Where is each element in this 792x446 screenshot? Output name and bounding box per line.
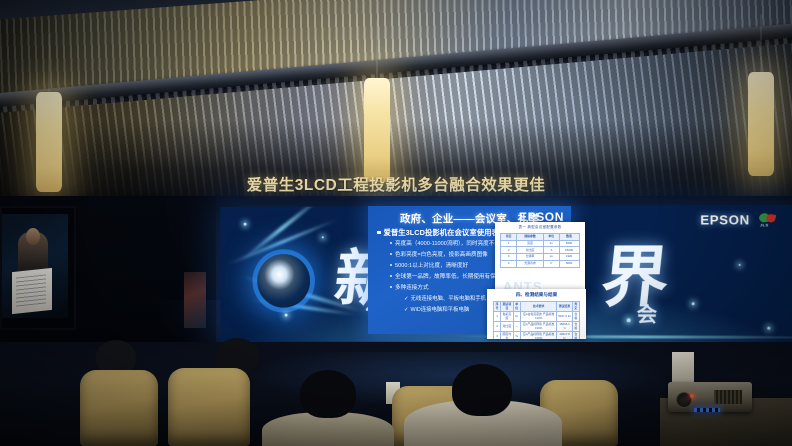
table-row: 3 照度均匀 % 应≥产品标称值 产品标准 ±10% 10617.8 lx 合格 — [493, 332, 579, 339]
backdrop-word-right: 会 — [637, 298, 657, 327]
table-cell: 10617.8 lx — [557, 332, 572, 339]
table-header-cell: 单位 — [544, 234, 560, 241]
pendant-light-right — [748, 72, 774, 176]
table-cell: 应≥产品标称值 产品标准 ±10% — [520, 322, 557, 332]
slide-bullet: 色彩亮度=白色亮度，投影高画质图像 — [390, 250, 488, 258]
table-header-cell: 项目 — [501, 234, 517, 241]
side-poster — [184, 272, 206, 328]
spark-particle — [322, 236, 324, 238]
table-cell: 应≥白色亮度的 产品标准 ±10% — [520, 312, 557, 322]
epson-wordmark: EPSON — [700, 213, 750, 226]
slide-sub-bullet-text: WiD连接电脑和平板电脑 — [411, 307, 470, 313]
projector-vent — [714, 390, 742, 404]
check-icon: ✓ — [404, 307, 409, 313]
table-cell: :1 — [544, 247, 560, 254]
table-cell: % — [513, 332, 520, 339]
slide-bullet: 亮度高（4000-11000流明），同时亮度不衰减 — [390, 239, 506, 247]
table-cell: lm — [513, 312, 520, 322]
table-header-cell: 技术要求 — [520, 302, 557, 312]
slide-subtitle: 爱普生3LCD投影机在会议室使用表现 — [377, 227, 506, 238]
conference-hall-photo: 爱普生3LCD工程投影机多台融合效果更佳 新 界 2 0 会 EPSON — [0, 0, 792, 446]
slide-bullet-text: 多种连接方式 — [395, 283, 429, 291]
table-header-cell: 单位 — [513, 302, 520, 312]
table-header-cell: 规格参数 — [516, 234, 543, 241]
slide-bullet-text: 亮度高（4000-11000流明），同时亮度不衰减 — [395, 239, 506, 247]
table-header-cell: 判定 — [572, 302, 579, 312]
document-section-title: 四、检测结果与结果 — [487, 292, 586, 298]
slide-bullet: 全球第一品牌，故障率低，长期使用有保障 — [390, 272, 501, 280]
projector-status-led — [690, 394, 694, 398]
table-header-row: 项目 规格参数 单位 数值 — [501, 234, 579, 241]
table-cell: h — [544, 260, 560, 267]
slide-sub-bullet: ✓WiD连接电脑和平板电脑 — [404, 305, 469, 313]
table-row: 3 分辨率 px 1920 — [501, 254, 579, 261]
table-cell: — — [513, 322, 520, 332]
draped-ceiling — [0, 0, 792, 200]
slide-bullet-text: 5000:1以上对比度，清晰度好 — [395, 261, 468, 269]
cobrand-logo-icon: JLS — [759, 213, 778, 226]
backdrop-epson-logo: EPSON JLS — [700, 213, 778, 226]
operator-head — [26, 228, 40, 245]
slide-sub-bullet: ✓无线连接电脑、平板电脑和手机 — [404, 294, 486, 302]
table-cell: 合格 — [572, 332, 579, 339]
projector-indicator-strip — [694, 408, 720, 412]
banquet-chair — [168, 368, 250, 446]
venue-banner-text: 爱普生3LCD工程投影机多台融合效果更佳 — [0, 173, 792, 195]
table-cell: 应≥产品标称值 产品标准 ±10% — [520, 332, 557, 339]
audience-head — [452, 364, 512, 416]
side-projection-operator-area — [2, 214, 68, 318]
check-icon: ✓ — [404, 296, 409, 302]
table-cell: 5000 — [559, 260, 579, 267]
bullet-dot-icon — [390, 253, 392, 255]
table-header-cell: 数值 — [559, 234, 579, 241]
banquet-chair — [80, 370, 158, 446]
slide-subtitle-text: 爱普生3LCD投影机在会议室使用表现 — [384, 227, 507, 238]
table-header-cell: 测试结果 — [557, 302, 572, 312]
table-cell: 亮度 — [516, 240, 543, 247]
bullet-dot-icon — [390, 242, 392, 244]
table-cell: 1 — [501, 240, 517, 247]
slide-bullet-text: 色彩亮度=白色亮度，投影高画质图像 — [395, 250, 488, 258]
table-cell: 对比度 — [516, 247, 543, 254]
table-cell: 2 — [501, 247, 517, 254]
table-placard — [672, 352, 694, 386]
table-cell: 5047.2 lm — [557, 312, 572, 322]
table-cell: 4 — [501, 260, 517, 267]
table-row: 2 对比度 :1 15000 — [501, 247, 579, 254]
table-cell: 分辨率 — [516, 254, 543, 261]
pendant-light-center — [364, 78, 390, 182]
slide-bullet-text: 全球第一品牌，故障率低，长期使用有保障 — [395, 272, 501, 280]
document-table-top: 项目 规格参数 单位 数值 1 亮度 lm 5200 2 对比度 :1 1500… — [500, 233, 579, 268]
slide-sub-bullet-text: 无线连接电脑、平板电脑和手机 — [411, 296, 486, 302]
square-bullet-icon — [377, 231, 381, 235]
table-header-cell: 测试项目 — [501, 302, 513, 312]
spark-particle — [692, 302, 695, 305]
table-cell: 对比度 — [501, 322, 513, 332]
glowing-orb-graphic — [257, 254, 310, 307]
table-cell: lm — [544, 240, 560, 247]
document-caption: 表一 典型会议室配置参数 — [495, 225, 585, 230]
table-cell: 15000 — [559, 247, 579, 254]
table-header-row: 序号 测试项目 单位 技术要求 测试结果 判定 — [493, 302, 579, 312]
table-row: 1 色彩亮度 lm 应≥白色亮度的 产品标准 ±10% 5047.2 lm 合格 — [493, 312, 579, 322]
spark-particle — [285, 314, 287, 316]
table-cell: 合格 — [572, 312, 579, 322]
table-header-cell: 序号 — [493, 302, 500, 312]
table-cell: 3 — [493, 332, 500, 339]
table-cell: 色彩亮度 — [501, 312, 513, 322]
table-row: 4 光源寿命 h 5000 — [501, 260, 579, 267]
bullet-dot-icon — [390, 264, 392, 266]
audience-head — [300, 370, 356, 418]
table-cell: 3 — [501, 254, 517, 261]
bullet-dot-icon — [390, 275, 392, 277]
audience-head — [96, 340, 136, 374]
table-cell: px — [544, 254, 560, 261]
spark-particle — [767, 327, 770, 330]
document-table-bottom: 序号 测试项目 单位 技术要求 测试结果 判定 1 色彩亮度 lm 应≥白色亮度… — [493, 301, 580, 339]
cobrand-label: JLS — [760, 222, 768, 227]
table-row: 1 亮度 lm 5200 — [501, 240, 579, 247]
table-cell: 15006.1 :1 — [557, 322, 572, 332]
table-cell: 5200 — [559, 240, 579, 247]
table-cell: 2 — [493, 322, 500, 332]
slide-bullet: 多种连接方式 — [390, 283, 429, 291]
table-cell: 1 — [493, 312, 500, 322]
table-cell: 合格 — [572, 322, 579, 332]
bullet-dot-icon — [390, 286, 392, 288]
operator-laptop-content — [16, 274, 46, 307]
spark-particle — [739, 264, 741, 266]
spark-particle — [244, 223, 247, 226]
table-row: 2 对比度 — 应≥产品标称值 产品标准 ±10% 15006.1 :1 合格 — [493, 322, 579, 332]
document-panel-bottom: 四、检测结果与结果 序号 测试项目 单位 技术要求 测试结果 判定 1 色彩亮度… — [487, 289, 586, 339]
slide-bullet: 5000:1以上对比度，清晰度好 — [390, 261, 468, 269]
table-cell: 1920 — [559, 254, 579, 261]
table-cell: 照度均匀 — [501, 332, 513, 339]
table-cell: 光源寿命 — [516, 260, 543, 267]
